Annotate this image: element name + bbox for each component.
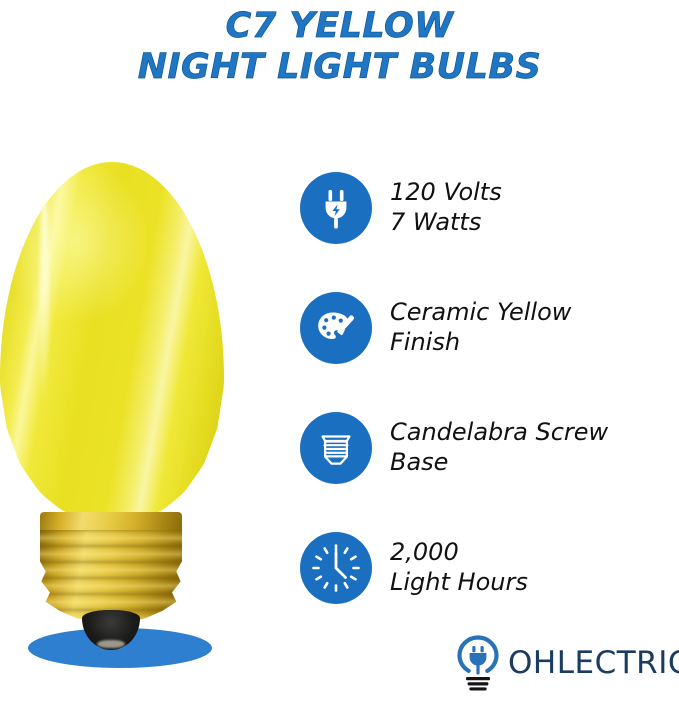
feature-list: 120 Volts 7 Watts [300,148,679,628]
feature-text-finish: Ceramic Yellow Finish [390,298,571,358]
product-image [0,140,290,700]
feature-item-base: Candelabra Screw Base [300,388,679,508]
feature-text-base: Candelabra Screw Base [390,418,608,478]
paint-palette-icon [300,292,372,364]
feature-item-finish: Ceramic Yellow Finish [300,268,679,388]
brand-name-text: OHLECTRIC [508,645,679,681]
title-line-2: NIGHT LIGHT BULBS [0,47,679,88]
brand-name: OHLECTRIC® [508,645,679,681]
brand-logo: OHLECTRIC® [452,634,679,692]
bulb-screw-base [40,530,182,622]
feature-line-2: Finish [390,328,571,358]
plug-icon [300,172,372,244]
feature-line-2: Base [390,448,608,478]
product-infographic: C7 YELLOW NIGHT LIGHT BULBS [0,0,679,701]
feature-line-1: 2,000 [390,538,528,568]
feature-line-2: Light Hours [390,568,528,598]
feature-text-life: 2,000 Light Hours [390,538,528,598]
feature-item-voltage: 120 Volts 7 Watts [300,148,679,268]
feature-line-1: Ceramic Yellow [390,298,571,328]
feature-item-life: 2,000 Light Hours [300,508,679,628]
clock-icon [300,532,372,604]
feature-line-1: 120 Volts [390,178,502,208]
feature-text-voltage: 120 Volts 7 Watts [390,178,502,238]
title-line-1: C7 YELLOW [0,6,679,47]
bulb-glass [0,162,224,522]
feature-line-1: Candelabra Screw [390,418,608,448]
feature-line-2: 7 Watts [390,208,502,238]
screw-base-icon [300,412,372,484]
page-title: C7 YELLOW NIGHT LIGHT BULBS [0,6,679,87]
bulb-plug-logo-icon [452,634,504,692]
